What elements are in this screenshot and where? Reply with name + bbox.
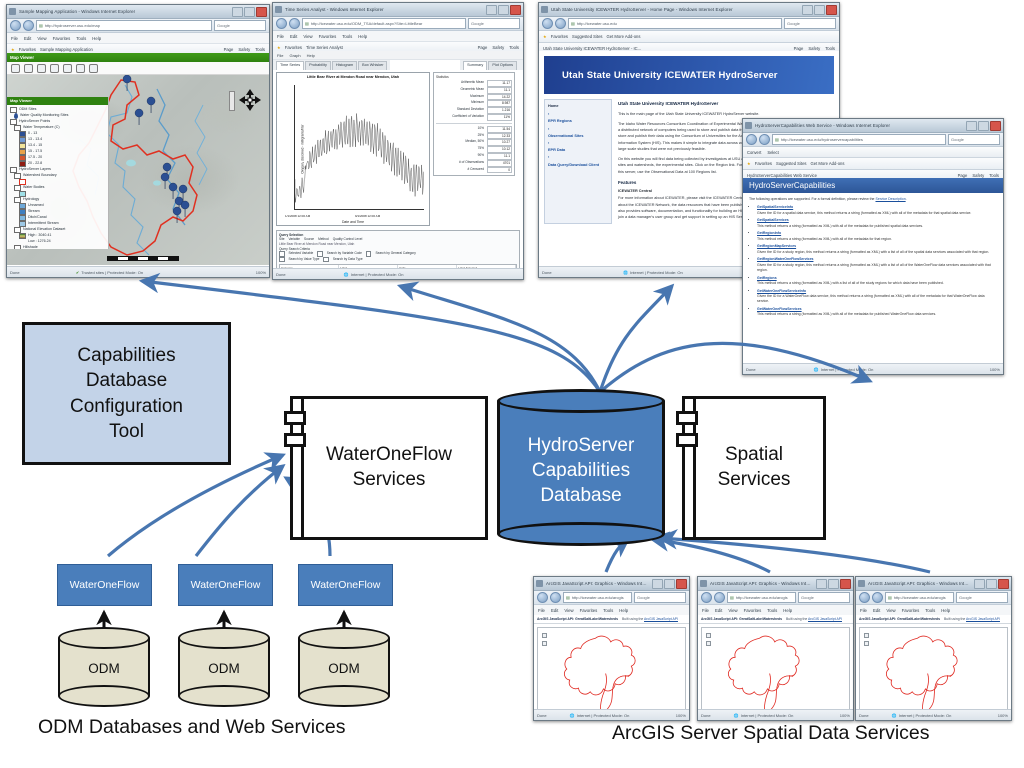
hydroserver-capabilities-database-cylinder[interactable]: HydroServerCapabilitiesDatabase xyxy=(497,389,665,546)
odm-label: ODM xyxy=(298,661,390,676)
titlebar[interactable]: Utah State University ICEWATER HydroServ… xyxy=(539,3,839,17)
page-content: File Graph Help Time Series Probability … xyxy=(273,51,523,269)
titlebar[interactable]: ArcGIS JavaScript API: Graphics - Window… xyxy=(698,577,853,591)
tab-probability[interactable]: Probability xyxy=(305,61,331,70)
titlebar[interactable]: ArcGIS JavaScript API: Graphics - Window… xyxy=(856,577,1011,591)
cylinder-bottom xyxy=(298,685,390,707)
get-more-addons-link[interactable]: Get More Add-ons xyxy=(607,34,641,39)
page-icon: ▤ xyxy=(305,21,309,26)
maximize-icon[interactable] xyxy=(244,7,255,17)
titlebar[interactable]: Time Series Analyst - Windows Internet E… xyxy=(273,3,523,17)
search-input[interactable]: Google xyxy=(784,18,836,29)
window-arcgis-spatial-service-2[interactable]: ArcGIS JavaScript API: Graphics - Window… xyxy=(697,576,854,721)
time-series-chart[interactable]: Little Bear River at Mendon Road near Me… xyxy=(276,72,430,226)
navigation-bar[interactable]: ▤ http://icewater.usu.edu Google xyxy=(539,17,839,31)
maximize-icon[interactable] xyxy=(828,579,839,589)
back-icon[interactable] xyxy=(537,592,548,603)
opt-general-category[interactable]: Search by General Category xyxy=(375,251,415,256)
menu-edit[interactable]: Edit xyxy=(873,608,880,613)
menu-view[interactable]: View xyxy=(728,608,737,613)
tab-histogram[interactable]: Histogram xyxy=(332,61,357,70)
map-viewport[interactable] xyxy=(537,627,686,710)
menu-bar[interactable]: File Edit View Favorites Tools Help xyxy=(273,31,523,42)
suggested-sites-link[interactable]: Suggested Sites xyxy=(572,34,603,39)
menu-tools[interactable]: Tools xyxy=(342,34,352,39)
address-input[interactable]: ▤ http://hydroserver.usu.edu/map xyxy=(36,20,212,31)
plot-tab-row[interactable]: Time Series Probability Histogram Box Wh… xyxy=(273,60,390,70)
odm-database-cylinder-1[interactable]: ODM xyxy=(58,627,150,707)
tab-summary[interactable]: Summary xyxy=(463,61,487,70)
search-input[interactable]: Google xyxy=(468,18,520,29)
menu-file[interactable]: File xyxy=(702,608,709,613)
security-zone: ✔ Trusted sites | Protected Mode: On xyxy=(76,270,143,275)
odm-database-cylinder-3[interactable]: ODM xyxy=(298,627,390,707)
maximize-icon[interactable] xyxy=(664,579,675,589)
menu-favorites[interactable]: Favorites xyxy=(319,34,337,39)
service-lead: The following operations are supported. … xyxy=(749,197,997,202)
menu-file[interactable]: File xyxy=(277,34,284,39)
minimize-icon[interactable] xyxy=(816,579,827,589)
search-input[interactable]: Google xyxy=(956,592,1008,603)
address-input[interactable]: ▤http://icewater.usu.edu/arcgis xyxy=(727,592,796,603)
search-input[interactable]: Google xyxy=(948,134,1000,145)
globe-icon: 🌐 xyxy=(570,713,575,718)
cylinder-bottom xyxy=(58,685,150,707)
zoom-level[interactable]: 100% xyxy=(256,270,266,275)
menu-help[interactable]: Help xyxy=(783,608,792,613)
built-using-text: Built using the xyxy=(622,617,643,621)
page-content: HydroServerCapabilities The following op… xyxy=(743,178,1003,364)
forward-icon[interactable] xyxy=(714,592,725,603)
forward-icon[interactable] xyxy=(759,134,770,145)
window-time-series-analyst[interactable]: Time Series Analyst - Windows Internet E… xyxy=(272,2,524,280)
stat-label: 90% xyxy=(436,153,484,160)
window-controls[interactable] xyxy=(974,579,1009,589)
window-sample-mapping-application[interactable]: Sample Mapping Application - Windows Int… xyxy=(6,4,270,278)
site-menu-link[interactable]: Data Query/Download Client xyxy=(548,162,608,169)
site-menu-item[interactable]: ▪ EPR Data xyxy=(548,140,608,154)
addon-bar[interactable]: Convert Select xyxy=(743,147,1003,158)
waterOneFlow-services-component[interactable]: WaterOneFlowServices xyxy=(290,396,488,540)
map-viewport[interactable] xyxy=(701,627,850,710)
site-menu-item[interactable]: ▪ Observational Sites xyxy=(548,126,608,140)
menu-view[interactable]: View xyxy=(886,608,895,613)
query-selection-panel[interactable]: Query Selection Site Variable Source Met… xyxy=(276,230,520,269)
service-method-item[interactable]: GetWaterOneFlowServicesThis method retur… xyxy=(757,307,997,318)
menu-favorites[interactable]: Favorites xyxy=(902,608,920,613)
legend-label: Water Temperature (C) xyxy=(23,125,60,131)
back-icon[interactable] xyxy=(542,18,553,29)
menu-help[interactable]: Help xyxy=(619,608,628,613)
favorites-star-icon[interactable]: ★ xyxy=(277,45,281,50)
search-input[interactable]: Google xyxy=(798,592,850,603)
print-icon[interactable] xyxy=(76,64,85,73)
titlebar[interactable]: HydroServerCapabilities Web Service - Wi… xyxy=(743,119,1003,133)
tab-box-whisker[interactable]: Box Whisker xyxy=(358,61,387,70)
arcgis-api-link[interactable]: ArcGIS JavaScript API xyxy=(966,617,1000,621)
search-placeholder: Google xyxy=(637,595,650,600)
waterOneFlow-service-box-3[interactable]: WaterOneFlow xyxy=(298,564,393,606)
menu-tools[interactable]: Tools xyxy=(76,36,86,41)
identify-icon[interactable] xyxy=(50,64,59,73)
cmd-page[interactable]: Page xyxy=(478,45,488,50)
command-bar[interactable]: Page Safety Tools xyxy=(224,47,265,52)
stat-label: Median, 50% xyxy=(436,139,484,146)
titlebar[interactable]: ArcGIS JavaScript API: Graphics - Window… xyxy=(534,577,689,591)
search-placeholder: Google xyxy=(217,23,230,28)
zoom-out-icon[interactable] xyxy=(24,64,33,73)
opt-selected-variable[interactable]: Selected Variable xyxy=(289,251,314,256)
command-bar[interactable]: Page Safety Tools xyxy=(478,45,519,50)
menu-view[interactable]: View xyxy=(303,34,312,39)
zoom-slider[interactable] xyxy=(229,91,235,111)
favorites-star-icon[interactable]: ★ xyxy=(11,47,15,52)
service-method-item[interactable]: GetSpatialServicesThis method returns a … xyxy=(757,218,997,229)
ie-icon xyxy=(745,122,752,129)
opt-value-type[interactable]: Search by Value Type xyxy=(289,257,320,262)
stat-label: Standard Deviation xyxy=(436,107,484,114)
app-menu-help[interactable]: Help xyxy=(307,53,315,58)
site-menu-link[interactable]: EPR Data xyxy=(548,147,608,154)
window-title: HydroServerCapabilities Web Service - Wi… xyxy=(755,123,963,128)
navigation-bar[interactable]: ▤ http://icewater.usu.edu/hydroservercap… xyxy=(743,133,1003,147)
map-scale-bar xyxy=(107,256,179,261)
close-icon[interactable] xyxy=(510,5,521,15)
site-menu-link[interactable]: Observational Sites xyxy=(548,133,608,140)
percentile-row: 75%10.12 xyxy=(436,146,512,153)
caption-odm-databases: ODM Databases and Web Services xyxy=(38,716,345,739)
window-title: ArcGIS JavaScript API: Graphics - Window… xyxy=(868,581,971,586)
map-viewport[interactable] xyxy=(859,627,1008,710)
status-bar: Done 🌐 Internet | Protected Mode: On xyxy=(273,268,523,279)
divider xyxy=(436,123,512,124)
page-icon: ▤ xyxy=(566,595,570,600)
menu-edit[interactable]: Edit xyxy=(290,34,297,39)
chart-xtick-0: 1/1/2008 12:00 AM xyxy=(285,214,310,218)
measure-icon[interactable] xyxy=(63,64,72,73)
opt-data-type[interactable]: Search by Data Type xyxy=(333,257,363,262)
capabilities-database-configuration-tool-box[interactable]: CapabilitiesDatabaseConfigurationTool xyxy=(22,322,231,465)
maximize-icon[interactable] xyxy=(814,5,825,15)
menu-edit[interactable]: Edit xyxy=(715,608,722,613)
ie-icon xyxy=(700,580,707,587)
service-method-item[interactable]: GetRegionsThis method returns a string (… xyxy=(757,276,997,287)
site-menu-item[interactable]: ▪ EPR Regions xyxy=(548,111,608,125)
radio-general-category[interactable] xyxy=(366,251,372,257)
legend-label: Water Quality Monitoring Sites xyxy=(20,113,68,119)
favorites-label[interactable]: Favorites xyxy=(285,45,302,50)
zoom-level[interactable]: 100% xyxy=(840,713,850,718)
maximize-icon[interactable] xyxy=(978,121,989,131)
legend-label: HydroServer Points xyxy=(19,119,50,125)
odm-label: ODM xyxy=(58,661,150,676)
globe-icon: 🌐 xyxy=(344,272,349,277)
search-placeholder: Google xyxy=(801,595,814,600)
percentile-rows: 10%11.5425%12.33Median, 50%10.2775%10.12… xyxy=(436,126,512,174)
window-controls[interactable] xyxy=(652,579,687,589)
cylinder-top xyxy=(497,389,665,413)
window-controls[interactable] xyxy=(802,5,837,15)
cmd-page[interactable]: Page xyxy=(224,47,234,52)
tab-time-series[interactable]: Time Series xyxy=(276,61,304,70)
legend-label: Intermittent Stream xyxy=(28,221,59,227)
legend-color-swatch xyxy=(19,161,26,167)
tab-plot-options[interactable]: Plot Options xyxy=(488,61,517,70)
address-input[interactable]: ▤ http://icewater.usu.edu/ODM_TSA/defaul… xyxy=(302,18,466,29)
odm-database-cylinder-2[interactable]: ODM xyxy=(178,627,270,707)
waterOneFlow-label: WaterOneFlow xyxy=(311,579,381,591)
clear-icon[interactable] xyxy=(89,64,98,73)
select-button[interactable]: Select xyxy=(767,150,778,155)
maximize-icon[interactable] xyxy=(986,579,997,589)
favorites-star-icon[interactable]: ★ xyxy=(747,161,751,166)
convert-button[interactable]: Convert xyxy=(747,150,761,155)
menu-file[interactable]: File xyxy=(860,608,867,613)
navigation-bar[interactable]: ▤http://icewater.usu.edu/arcgisGoogle xyxy=(856,591,1011,605)
spatial-services-component[interactable]: SpatialServices xyxy=(682,396,826,540)
window-arcgis-spatial-service-3[interactable]: ArcGIS JavaScript API: Graphics - Window… xyxy=(855,576,1012,721)
status-text: Done xyxy=(10,270,20,275)
cmd-tools[interactable]: Tools xyxy=(255,47,265,52)
window-arcgis-spatial-service-1[interactable]: ArcGIS JavaScript API: Graphics - Window… xyxy=(533,576,690,721)
service-method-description: This method returns a string (formatted … xyxy=(757,312,997,317)
menu-items[interactable]: ▪ EPR Regions▪ Observational Sites▪ EPR … xyxy=(548,111,608,169)
map-toolbar[interactable] xyxy=(7,62,269,75)
site-banner: Utah State University ICEWATER HydroServ… xyxy=(544,56,834,94)
service-method-item[interactable]: GetRegionInfoThis method returns a strin… xyxy=(757,231,997,242)
favorites-label[interactable]: Favorites xyxy=(755,161,772,166)
get-more-addons-link[interactable]: Get More Add-ons xyxy=(811,161,845,166)
navigation-bar[interactable]: ▤http://icewater.usu.edu/arcgisGoogle xyxy=(534,591,689,605)
globe-icon: 🌐 xyxy=(734,713,739,718)
favorites-bar[interactable]: ★ Favorites Suggested Sites Get More Add… xyxy=(743,158,1003,170)
menu-tools[interactable]: Tools xyxy=(767,608,777,613)
close-icon[interactable] xyxy=(826,5,837,15)
zone-text: Internet | Protected Mode: On xyxy=(899,713,952,718)
address-input[interactable]: ▤ http://icewater.usu.edu/hydroservercap… xyxy=(772,134,946,145)
site-menu[interactable]: Home ▪ EPR Regions▪ Observational Sites▪… xyxy=(544,99,612,224)
site-menu-link[interactable]: EPR Regions xyxy=(548,118,608,125)
menu-file[interactable]: File xyxy=(11,36,18,41)
app-header: ArcGIS JavaScript API: GreatSaltLake/Wat… xyxy=(856,615,1011,624)
stat-label: 75% xyxy=(436,146,484,153)
search-input[interactable]: Google xyxy=(214,20,266,31)
stat-value: 11% xyxy=(487,114,512,121)
service-description-link[interactable]: Service Description xyxy=(875,197,905,201)
address-input[interactable]: ▤http://icewater.usu.edu/arcgis xyxy=(563,592,632,603)
forward-icon[interactable] xyxy=(555,18,566,29)
radio-value-type[interactable] xyxy=(279,257,285,263)
legend-label: Hillshade xyxy=(23,245,38,249)
cmd-tools[interactable]: Tools xyxy=(509,45,519,50)
stat-label: Geometric Mean xyxy=(436,87,484,94)
zoom-level[interactable]: 100% xyxy=(998,713,1008,718)
legend-checkbox xyxy=(14,245,21,249)
minimize-icon[interactable] xyxy=(966,121,977,131)
service-method-link[interactable]: GetSpatialServiceInfo xyxy=(757,205,793,209)
shield-icon: ✔ xyxy=(76,270,79,275)
map-canvas[interactable]: Map Viewer ODM SitesWater Quality Monito… xyxy=(7,75,269,265)
side-tab-row[interactable]: Summary Plot Options xyxy=(460,60,523,70)
forward-icon[interactable] xyxy=(550,592,561,603)
zoom-level[interactable]: 100% xyxy=(676,713,686,718)
stat-value: 10.12 xyxy=(487,146,512,153)
menu-favorites[interactable]: Favorites xyxy=(744,608,762,613)
statistic-row: Minimum8.987 xyxy=(436,100,512,107)
service-method-link[interactable]: GetWaterOneFlowServiceInfo xyxy=(757,289,806,293)
service-method-item[interactable]: GetWaterOneFlowServiceInfoGiven the ID f… xyxy=(757,289,997,305)
service-method-item[interactable]: GetSpatialServiceInfoGiven the ID for a … xyxy=(757,205,997,216)
service-method-link[interactable]: GetRegionInfo xyxy=(757,231,781,235)
waterOneFlow-service-box-2[interactable]: WaterOneFlow xyxy=(178,564,273,606)
close-icon[interactable] xyxy=(676,579,687,589)
ie-icon xyxy=(9,8,16,15)
stat-label: 25% xyxy=(436,133,484,140)
address-input[interactable]: ▤http://icewater.usu.edu/arcgis xyxy=(885,592,954,603)
window-controls[interactable] xyxy=(232,7,267,17)
chart-xtick-1: 9/1/2008 12:00 AM xyxy=(355,214,380,218)
cmd-safety[interactable]: Safety xyxy=(492,45,504,50)
service-method-link[interactable]: GetWaterOneFlowServices xyxy=(757,307,802,311)
legend-label: 20 - 22.8 xyxy=(28,161,42,167)
page-content: ArcGIS JavaScript API: GreatSaltLake/Wat… xyxy=(698,615,853,710)
statistic-row: Maximum14.22 xyxy=(436,94,512,101)
cylinder-bottom xyxy=(497,522,665,546)
opt-variable-code[interactable]: Search by Variable Code xyxy=(327,251,362,256)
menu-tools[interactable]: Tools xyxy=(603,608,613,613)
forward-icon[interactable] xyxy=(23,20,34,31)
zoom-in-icon[interactable] xyxy=(11,64,20,73)
address-value: http://icewater.usu.edu/hydroservercapab… xyxy=(781,137,863,142)
favorites-label[interactable]: Favorites xyxy=(551,34,568,39)
globe-icon: 🌐 xyxy=(814,367,819,372)
cmd-safety[interactable]: Safety xyxy=(238,47,250,52)
menu-view[interactable]: View xyxy=(37,36,46,41)
minimize-icon[interactable] xyxy=(232,7,243,17)
site-menu-item[interactable]: ▪ Data Query/Download Client xyxy=(548,154,608,168)
back-icon[interactable] xyxy=(859,592,870,603)
statistics-panel: Statistics Arithmetic Mean11.17Geometric… xyxy=(433,72,515,226)
browser-tab[interactable]: Sample Mapping Application xyxy=(40,47,93,52)
stat-label: Maximum xyxy=(436,94,484,101)
address-value: http://icewater.usu.edu/arcgis xyxy=(572,595,624,600)
forward-icon[interactable] xyxy=(289,18,300,29)
minimize-icon[interactable] xyxy=(802,5,813,15)
close-icon[interactable] xyxy=(998,579,1009,589)
stat-value: 12.33 xyxy=(487,133,512,140)
pan-arrows-icon[interactable] xyxy=(239,89,261,111)
window-controls[interactable] xyxy=(486,5,521,15)
address-value: http://icewater.usu.edu/arcgis xyxy=(736,595,788,600)
waterOneFlow-service-box-1[interactable]: WaterOneFlow xyxy=(57,564,152,606)
menu-view[interactable]: View xyxy=(564,608,573,613)
back-icon[interactable] xyxy=(746,134,757,145)
titlebar[interactable]: Sample Mapping Application - Windows Int… xyxy=(7,5,269,19)
legend-label: HydroServer Layers xyxy=(19,167,51,173)
stat-value: 11.1 xyxy=(487,153,512,160)
minimize-icon[interactable] xyxy=(652,579,663,589)
radio-variable-code[interactable] xyxy=(317,251,323,257)
service-method-link[interactable]: GetSpatialServices xyxy=(757,218,789,222)
app-menu-graph[interactable]: Graph xyxy=(289,53,300,58)
menu-bar[interactable]: File Edit View Favorites Tools Help xyxy=(7,33,269,44)
search-input[interactable]: Google xyxy=(634,592,686,603)
page-icon: ▤ xyxy=(888,595,892,600)
search-options-row-2[interactable]: Search by Value Type Search by Data Type xyxy=(279,257,517,263)
stat-label: Arithmetic Mean xyxy=(436,80,484,87)
menu-help[interactable]: Help xyxy=(358,34,367,39)
percentile-row: 25%12.33 xyxy=(436,133,512,140)
address-input[interactable]: ▤ http://icewater.usu.edu xyxy=(568,18,782,29)
menu-help[interactable]: Help xyxy=(92,36,101,41)
back-icon[interactable] xyxy=(276,18,287,29)
service-lead-text: The following operations are supported. … xyxy=(749,197,875,201)
menu-help[interactable]: Help xyxy=(941,608,950,613)
favorites-star-icon[interactable]: ★ xyxy=(543,34,547,39)
statistic-row: Coefficient of Variation11% xyxy=(436,114,512,121)
browser-tab[interactable]: Time Series Analyst xyxy=(306,45,343,50)
menu-edit[interactable]: Edit xyxy=(551,608,558,613)
window-controls[interactable] xyxy=(816,579,851,589)
service-method-link[interactable]: GetRegionWaterOneFlowServices xyxy=(757,257,813,261)
menu-favorites[interactable]: Favorites xyxy=(53,36,71,41)
pan-icon[interactable] xyxy=(37,64,46,73)
arcgis-api-link[interactable]: ArcGIS JavaScript API xyxy=(808,617,842,621)
stat-value: 1.216 xyxy=(487,107,512,114)
map-legend-panel[interactable]: Map Viewer ODM SitesWater Quality Monito… xyxy=(7,97,109,249)
legend-row[interactable]: Hillshade xyxy=(10,245,106,249)
app-menu-bar[interactable]: File Graph Help xyxy=(273,51,523,60)
service-method-link[interactable]: GetRegions xyxy=(757,276,777,280)
app-menu-file[interactable]: File xyxy=(277,53,283,58)
window-title: ArcGIS JavaScript API: Graphics - Window… xyxy=(546,581,649,586)
arcgis-api-link[interactable]: ArcGIS JavaScript API xyxy=(644,617,678,621)
service-method-item[interactable]: GetRegionWaterOneFlowServicesGiven the I… xyxy=(757,257,997,273)
close-icon[interactable] xyxy=(990,121,1001,131)
minimize-icon[interactable] xyxy=(974,579,985,589)
forward-icon[interactable] xyxy=(872,592,883,603)
navigation-bar[interactable]: ▤ http://icewater.usu.edu/ODM_TSA/defaul… xyxy=(273,17,523,31)
service-method-link[interactable]: GetRegionMapServices xyxy=(757,244,796,248)
back-icon[interactable] xyxy=(10,20,21,31)
menu-tools[interactable]: Tools xyxy=(925,608,935,613)
service-method-item[interactable]: GetRegionMapServicesGiven the ID for a s… xyxy=(757,244,997,255)
built-using-text: Built using the xyxy=(944,617,965,621)
navigation-bar[interactable]: ▤http://icewater.usu.edu/arcgisGoogle xyxy=(698,591,853,605)
minimize-icon[interactable] xyxy=(486,5,497,15)
favorites-bar[interactable]: ★ Favorites Suggested Sites Get More Add… xyxy=(539,31,839,43)
chart-plot-area xyxy=(294,85,424,210)
menu-favorites[interactable]: Favorites xyxy=(580,608,598,613)
menu-edit[interactable]: Edit xyxy=(24,36,31,41)
close-icon[interactable] xyxy=(840,579,851,589)
stat-value: 11.54 xyxy=(487,126,512,133)
favorites-label[interactable]: Favorites xyxy=(19,47,36,52)
menu-file[interactable]: File xyxy=(538,608,545,613)
zoom-level[interactable]: 100% xyxy=(990,367,1000,372)
window-hydroserver-capabilities-web-service[interactable]: HydroServerCapabilities Web Service - Wi… xyxy=(742,118,1004,375)
maximize-icon[interactable] xyxy=(498,5,509,15)
window-controls[interactable] xyxy=(966,121,1001,131)
page-icon: ▤ xyxy=(39,23,43,28)
status-text: Done xyxy=(542,270,552,275)
percentile-row: # of Observations4701 xyxy=(436,160,512,167)
close-icon[interactable] xyxy=(256,7,267,17)
radio-data-type[interactable] xyxy=(323,257,329,263)
back-icon[interactable] xyxy=(701,592,712,603)
navigation-bar[interactable]: ▤ http://hydroserver.usu.edu/map Google xyxy=(7,19,269,33)
suggested-sites-link[interactable]: Suggested Sites xyxy=(776,161,807,166)
